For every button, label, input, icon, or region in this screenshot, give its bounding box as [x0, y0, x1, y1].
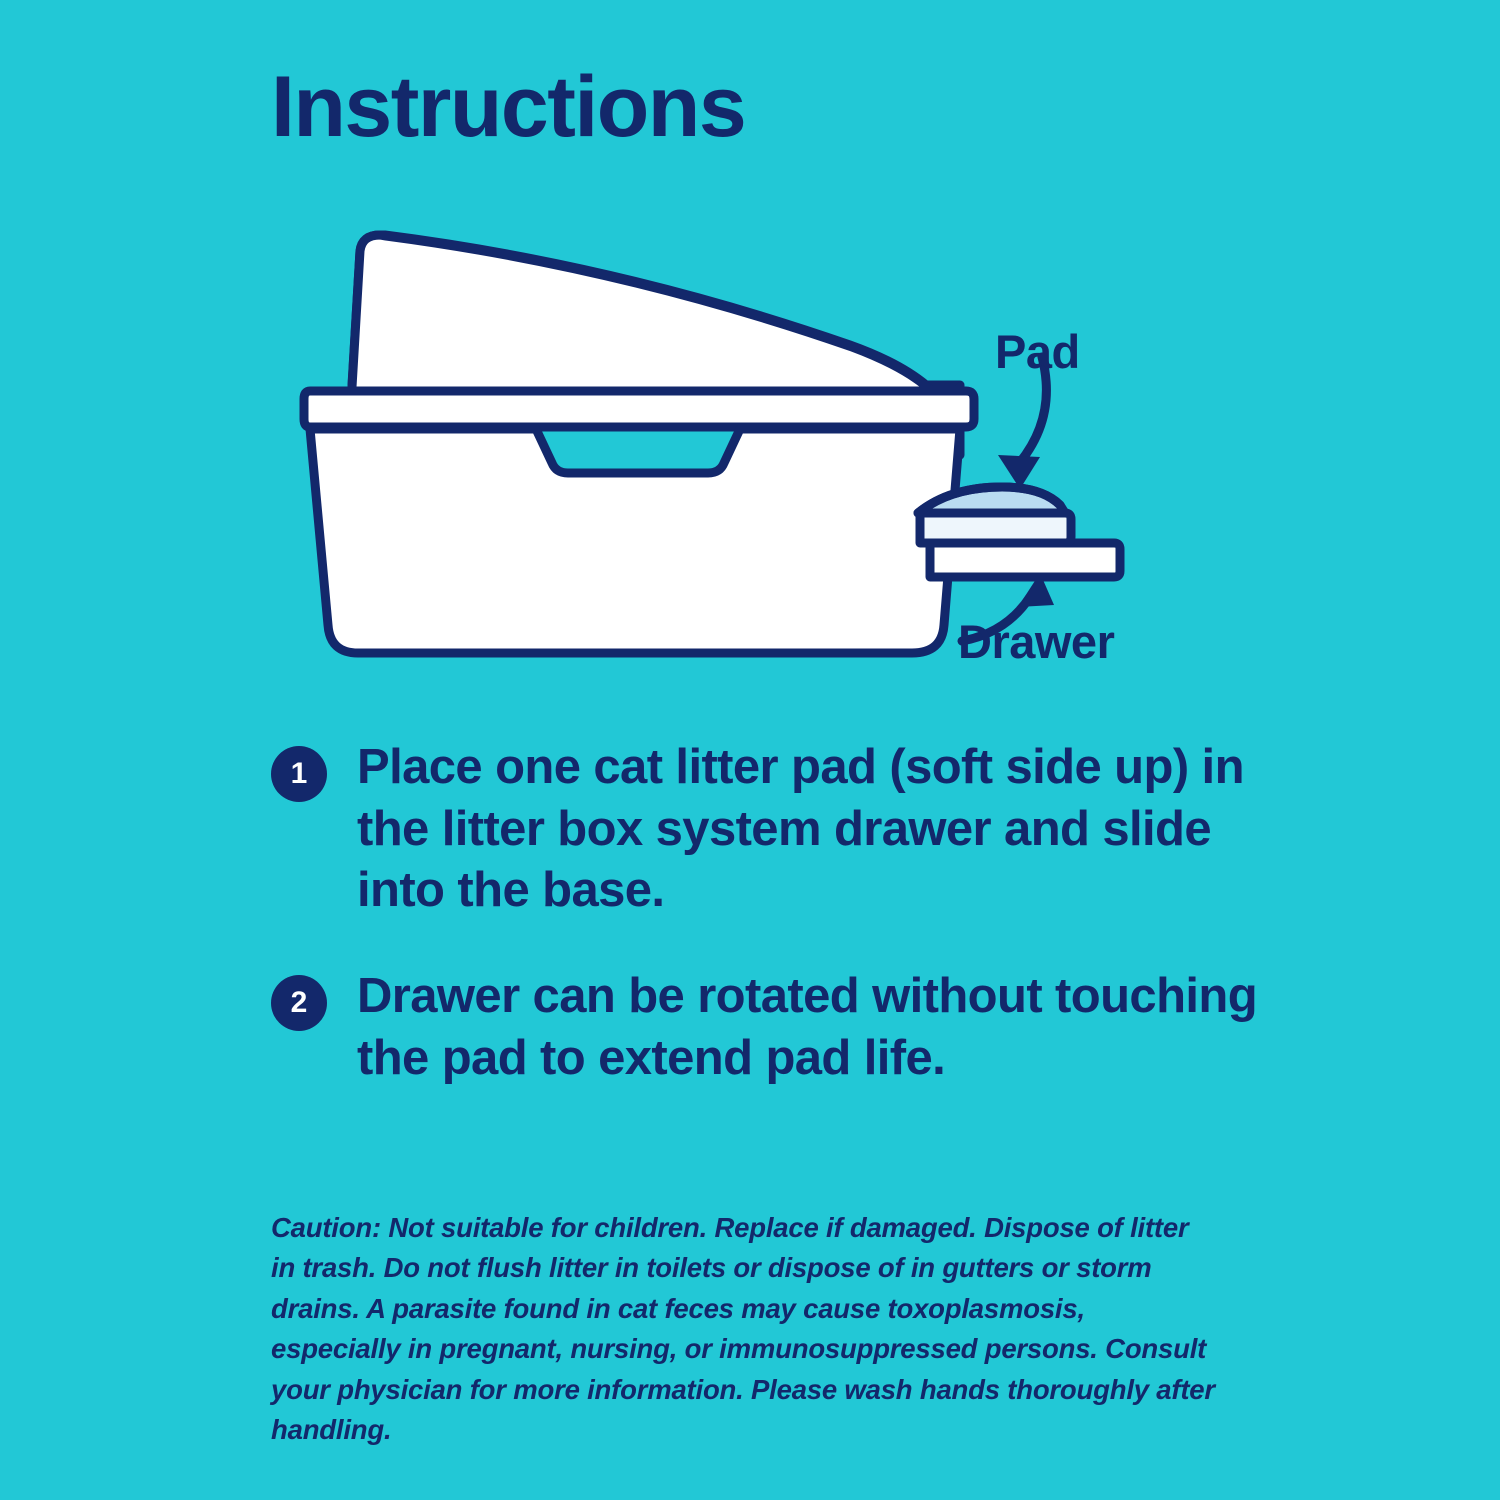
drawer-tray [930, 543, 1120, 577]
instruction-steps: 1 Place one cat litter pad (soft side up… [271, 737, 1301, 1134]
instructions-page: Instructions [0, 0, 1500, 1500]
instruction-step-2: 2 Drawer can be rotated without touching… [271, 966, 1301, 1089]
caution-text: Caution: Not suitable for children. Repl… [271, 1208, 1216, 1451]
step-text-2: Drawer can be rotated without touching t… [357, 966, 1297, 1089]
diagram-label-pad: Pad [995, 328, 1080, 375]
diagram-label-drawer: Drawer [958, 618, 1114, 665]
page-title: Instructions [271, 64, 745, 150]
base-tub [310, 429, 960, 653]
step-number-badge-2: 2 [271, 975, 327, 1031]
step-text-1: Place one cat litter pad (soft side up) … [357, 737, 1297, 922]
instruction-step-1: 1 Place one cat litter pad (soft side up… [271, 737, 1301, 922]
rim-band [304, 391, 974, 427]
step-number-badge-1: 1 [271, 746, 327, 802]
